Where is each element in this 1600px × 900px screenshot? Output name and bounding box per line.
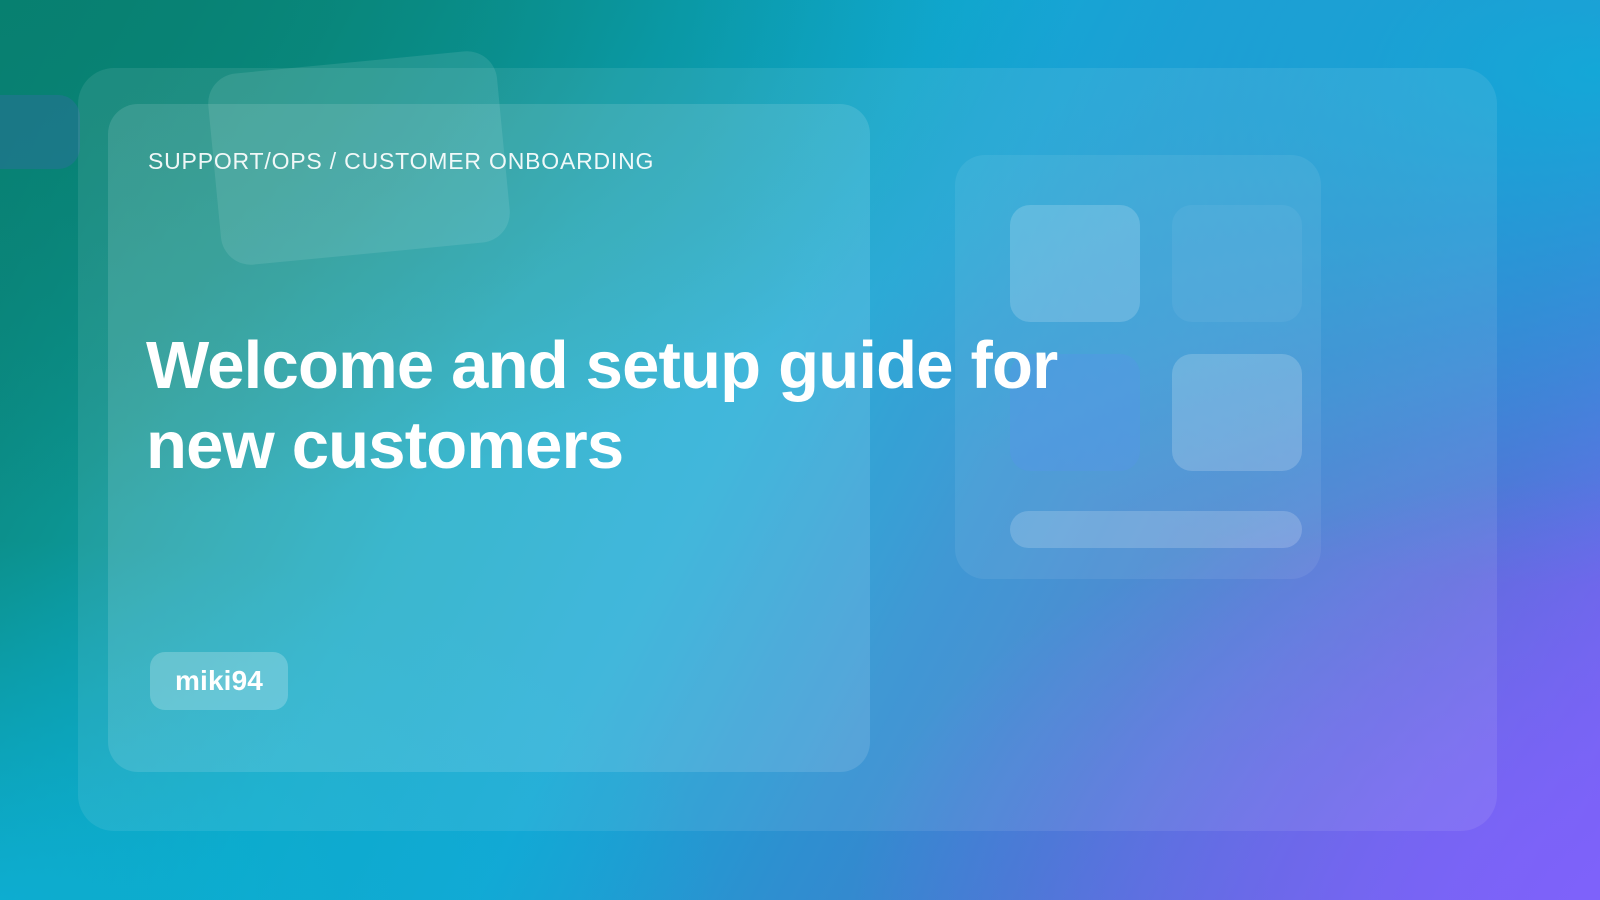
decorative-left-chip: [0, 95, 80, 169]
page-title: Welcome and setup guide for new customer…: [146, 326, 1146, 486]
author-name: miki94: [175, 665, 263, 697]
author-badge: miki94: [150, 652, 288, 710]
decorative-tile-4: [1172, 354, 1302, 471]
social-card-canvas: SUPPORT/OPS / CUSTOMER ONBOARDING Welcom…: [0, 0, 1600, 900]
content-card: SUPPORT/OPS / CUSTOMER ONBOARDING Welcom…: [108, 104, 870, 772]
decorative-panel-bar: [1010, 511, 1302, 548]
decorative-tile-1: [1010, 205, 1140, 322]
breadcrumb: SUPPORT/OPS / CUSTOMER ONBOARDING: [148, 148, 654, 175]
decorative-tile-2: [1172, 205, 1302, 322]
